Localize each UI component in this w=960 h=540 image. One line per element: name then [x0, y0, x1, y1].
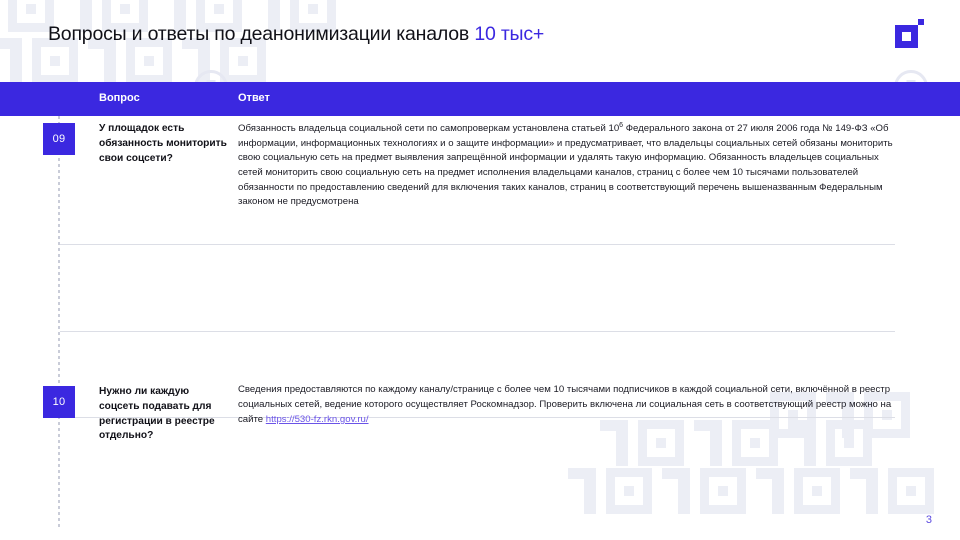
brand-logo-icon — [895, 25, 918, 48]
page-title-main: Вопросы и ответы по деанонимизации канал… — [48, 23, 474, 45]
slide-header: Вопросы и ответы по деанонимизации канал… — [0, 0, 960, 82]
column-header-question: Вопрос — [99, 92, 140, 104]
answer-text-pre: Обязанность владельца социальной сети по… — [238, 123, 619, 134]
faq-rows: 09 У площадок есть обязанность мониторит… — [0, 116, 960, 513]
table-header: Вопрос Ответ — [0, 82, 960, 116]
table-row: 10 Нужно ли каждую соцсеть подавать для … — [0, 248, 960, 338]
answer-text-post: Федерального закона от 27 июля 2006 года… — [238, 123, 893, 207]
row-answer: Обязанность владельца социальной сети по… — [238, 121, 895, 210]
page-title-accent: 10 тыс+ — [474, 23, 544, 45]
brand-logo-inner-square — [902, 32, 911, 41]
row-question: У площадок есть обязанность мониторить с… — [99, 122, 231, 166]
table-row: 12 Что делать со страницами в Instagram?… — [0, 423, 960, 513]
brand-logo-dot — [918, 19, 924, 25]
row-number-badge: 09 — [43, 123, 75, 155]
column-header-answer: Ответ — [238, 92, 270, 104]
page-title: Вопросы и ответы по деанонимизации канал… — [48, 23, 544, 46]
table-row: 11 Какие соцсети входят в реестр, а каки… — [0, 338, 960, 423]
table-row: 09 У площадок есть обязанность мониторит… — [0, 116, 960, 248]
page-number: 3 — [926, 514, 932, 526]
